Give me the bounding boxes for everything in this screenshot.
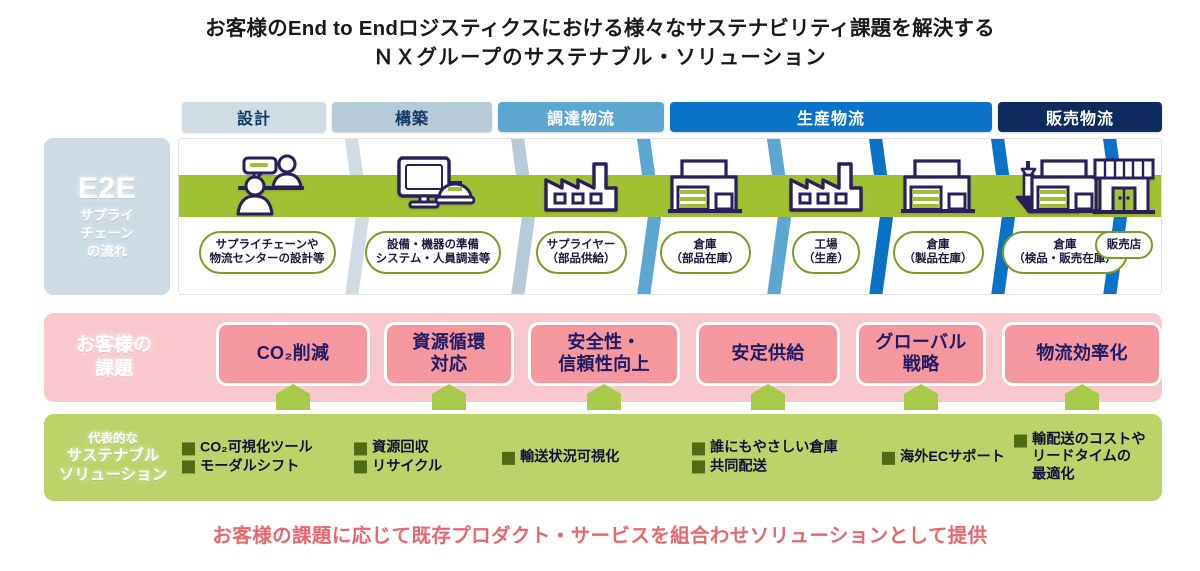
bullet-square-icon (354, 461, 367, 474)
e2e-sub-line-2: チェーン (80, 225, 134, 243)
store-icon (1091, 139, 1157, 231)
customer-issues-panel: お客様の 課題 CO₂削減資源循環 対応安全性・ 信頼性向上安定供給グローバル … (44, 313, 1162, 402)
consulting-people-icon (224, 139, 310, 231)
solution-group-4: 誰にもやさしい倉庫共同配送 (692, 438, 838, 477)
issue-box-label: 物流効率化 (1036, 343, 1128, 365)
supply-chain-section: E2E サプライ チェーン の流れ サプライチェーンや 物流センターの設計等 設… (44, 138, 1162, 295)
issue-to-solution-arrow-3 (587, 384, 621, 410)
solution-item: 共同配送 (692, 458, 838, 475)
solutions-head-line-1: サステナブル (52, 446, 174, 465)
stage-bar-2: 構築 (332, 102, 492, 132)
stage-bar-3: 調達物流 (498, 102, 664, 132)
issue-box-label: 安全性・ 信頼性向上 (558, 332, 650, 375)
chain-node-label: 倉庫 （製品在庫） (893, 231, 984, 274)
solutions-head-small: 代表的な (52, 431, 174, 446)
issues-head-line-2: 課題 (58, 358, 170, 382)
monitor-helmet-icon (391, 139, 475, 231)
title-line-1: お客様のEnd to Endロジスティクスにおける様々なサステナビリティ課題を解… (0, 14, 1200, 43)
footer-message: お客様の課題に応じて既存プロダクト・サービスを組合わせソリューションとして提供 (0, 519, 1200, 548)
solution-group-1: CO₂可視化ツールモーダルシフト (182, 438, 313, 477)
e2e-title: E2E (78, 173, 136, 205)
issues-head-line-1: お客様の (58, 333, 170, 357)
issue-box-label: 安定供給 (731, 343, 804, 365)
supply-chain-track: サプライチェーンや 物流センターの設計等 設備・機器の準備 システム・人員調達等… (178, 138, 1162, 295)
solution-item-label: CO₂可視化ツール (200, 439, 313, 456)
issue-box-3: 安全性・ 信頼性向上 (528, 322, 680, 386)
bullet-square-icon (1014, 434, 1027, 447)
issue-to-solution-arrow-6 (1065, 384, 1099, 410)
e2e-subtitle: サプライ チェーン の流れ (80, 207, 134, 260)
solution-item-label: 輸送状況可視化 (520, 449, 619, 466)
e2e-label-panel: E2E サプライ チェーン の流れ (44, 138, 170, 295)
solution-item-label: 誰にもやさしい倉庫 (710, 439, 838, 456)
issue-to-solution-arrow-4 (751, 384, 785, 410)
issue-box-label: グローバル 戦略 (875, 332, 966, 375)
solution-item: 資源回収 (354, 439, 442, 456)
solution-item-label: 海外ECサポート (900, 449, 1005, 466)
warehouse-icon (899, 139, 977, 231)
stage-bar-label: 販売物流 (1046, 105, 1114, 129)
sustainable-solutions-panel: 代表的な サステナブル ソリューション CO₂可視化ツールモーダルシフト資源回収… (44, 414, 1162, 501)
chain-node-9: 販売店 (1085, 139, 1162, 295)
page-title: お客様のEnd to Endロジスティクスにおける様々なサステナビリティ課題を解… (0, 14, 1200, 72)
stage-bar-1: 設計 (182, 102, 326, 132)
solution-item: 輸送状況可視化 (502, 449, 619, 466)
e2e-sub-line-1: サプライ (80, 207, 134, 225)
chain-node-label: 工場 （生産） (792, 231, 860, 274)
solution-item-label: リサイクル (372, 458, 442, 475)
stage-bar-label: 構築 (395, 105, 429, 129)
solution-group-3: 輸送状況可視化 (502, 447, 619, 467)
bullet-square-icon (882, 451, 895, 464)
stage-bar-5: 販売物流 (998, 102, 1162, 132)
issue-box-1: CO₂削減 (216, 322, 370, 386)
solution-item: 誰にもやさしい倉庫 (692, 439, 838, 456)
chain-node-4: 倉庫 （部品在庫） (645, 139, 765, 295)
issue-to-solution-arrow-5 (904, 384, 938, 410)
stage-bar-label: 生産物流 (797, 105, 865, 129)
chain-node-label: 設備・機器の準備 システム・人員調達等 (365, 231, 502, 274)
customer-issues-heading: お客様の 課題 (58, 333, 170, 382)
issue-to-solution-arrow-2 (432, 384, 466, 410)
issue-to-solution-arrow-1 (276, 384, 310, 410)
chain-node-3: サプライヤー （部品供給） (521, 139, 641, 295)
factory-icon (787, 139, 865, 231)
solution-item: CO₂可視化ツール (182, 439, 313, 456)
bullet-square-icon (692, 442, 705, 455)
bullet-square-icon (354, 442, 367, 455)
issue-box-4: 安定供給 (696, 322, 840, 386)
solution-item: モーダルシフト (182, 458, 313, 475)
solution-group-2: 資源回収リサイクル (354, 438, 442, 477)
factory-icon (542, 139, 620, 231)
title-line-2: ＮＸグループのサステナブル・ソリューション (0, 43, 1200, 72)
issue-box-label: CO₂削減 (257, 343, 330, 365)
bullet-square-icon (182, 442, 195, 455)
chain-node-label: サプライヤー （部品供給） (536, 231, 627, 274)
issue-box-6: 物流効率化 (1002, 322, 1162, 386)
issue-box-5: グローバル 戦略 (856, 322, 986, 386)
chain-node-2: 設備・機器の準備 システム・人員調達等 (351, 139, 515, 295)
solution-group-5: 海外ECサポート (882, 447, 1005, 467)
bullet-square-icon (182, 461, 195, 474)
chain-node-1: サプライチェーンや 物流センターの設計等 (185, 139, 349, 295)
chain-node-label: 販売店 (1095, 231, 1153, 259)
solution-item: リサイクル (354, 458, 442, 475)
solution-item-label: モーダルシフト (200, 458, 299, 475)
solutions-heading: 代表的な サステナブル ソリューション (52, 431, 174, 484)
solution-item-label: 資源回収 (372, 439, 429, 456)
solution-group-6: 輸配送のコストや リードタイムの 最適化 (1014, 430, 1146, 485)
infographic-root: お客様のEnd to Endロジスティクスにおける様々なサステナビリティ課題を解… (0, 0, 1200, 571)
solution-item: 輸配送のコストや リードタイムの 最適化 (1014, 432, 1146, 484)
solution-item-label: 輸配送のコストや リードタイムの 最適化 (1032, 432, 1146, 484)
stage-header-bars: 設計構築調達物流生産物流販売物流 (0, 102, 1200, 132)
bullet-square-icon (502, 451, 515, 464)
stage-bar-4: 生産物流 (670, 102, 992, 132)
issue-box-label: 資源循環 対応 (412, 332, 485, 375)
bullet-square-icon (692, 461, 705, 474)
e2e-sub-line-3: の流れ (80, 243, 134, 261)
solution-item-label: 共同配送 (710, 458, 767, 475)
solution-item: 海外ECサポート (882, 449, 1005, 466)
chain-node-6: 倉庫 （製品在庫） (879, 139, 997, 295)
issue-box-2: 資源循環 対応 (384, 322, 514, 386)
chain-node-5: 工場 （生産） (775, 139, 877, 295)
chain-node-label: 倉庫 （部品在庫） (660, 231, 751, 274)
stage-bar-label: 調達物流 (547, 105, 615, 129)
chain-node-label: サプライチェーンや 物流センターの設計等 (199, 231, 336, 274)
solutions-head-line-2: ソリューション (52, 465, 174, 484)
stage-bar-label: 設計 (237, 105, 271, 129)
warehouse-icon (666, 139, 744, 231)
